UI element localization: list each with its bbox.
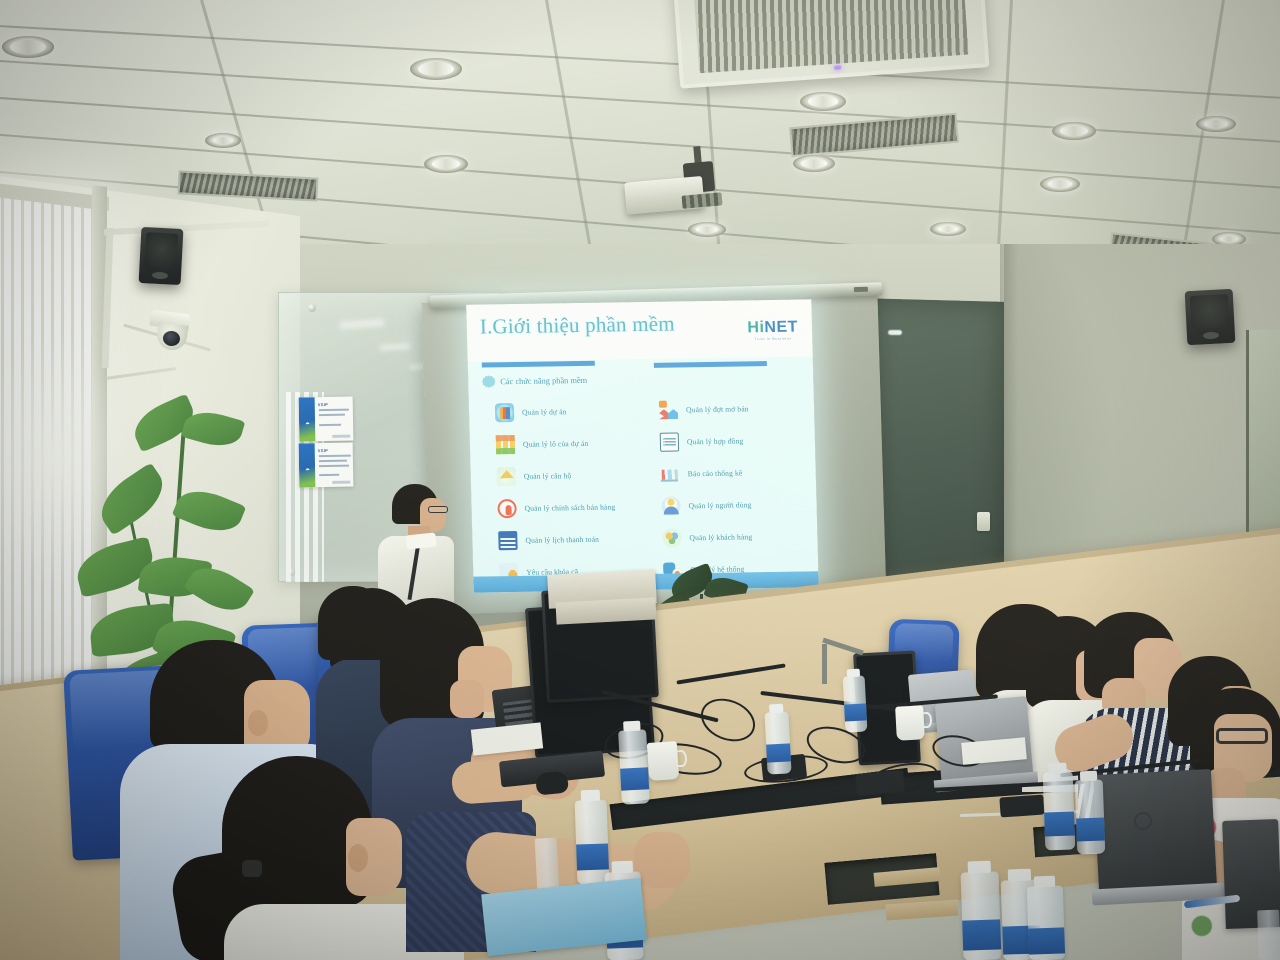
feature-item: Quản lý lô của dự án [495,426,661,461]
feature-item: Báo cáo thống kê [660,455,818,490]
power-adapter [999,794,1044,817]
ceiling-projector [623,165,734,214]
feature-column-right: Quản lý đợt mở bán Quản lý hợp đồng Báo … [659,391,819,585]
glass-door-glint [888,330,902,335]
hinet-logo: HiNET Trust in Business [747,320,798,342]
ceiling-downlight [930,222,966,236]
drinking-glass[interactable] [1257,910,1280,960]
roller-end-cap [854,287,868,292]
ceiling-downlight [1196,116,1236,132]
grid-blocks-icon [496,435,515,454]
project-icon [495,403,514,422]
attendee-ear [248,710,268,736]
ceiling-ac-unit [672,0,989,89]
logo-text-hi: Hi [747,319,764,336]
feature-label: Quản lý căn hộ [524,471,572,481]
feature-column-left: Quản lý dự án Quản lý lô của dự án Quản … [495,394,665,589]
attendee-hair [318,586,388,660]
feature-item: Quản lý hợp đồng [659,423,818,458]
slide-title: I.Giới thiệu phần mềm [480,311,676,339]
wifi-info-poster: ◓ VSIP [299,443,354,488]
poster-title: VSIP [318,448,328,453]
whiteboard-stud [308,304,316,312]
slide-accent-bar-left [482,361,595,368]
attendee-hand [450,680,484,718]
presentation-slide: I.Giới thiệu phần mềm HiNET Trust in Bus… [466,299,819,592]
water-bottle[interactable] [618,729,650,804]
ceiling-downlight [205,133,241,148]
computer-mouse[interactable] [535,770,569,795]
feature-label: Quản lý chính sách bán hàng [524,502,615,512]
feature-label: Quản lý dự án [522,407,567,417]
sales-policy-icon [497,498,516,517]
feature-label: Quản lý lịch thanh toán [525,534,599,544]
feature-item: Quản lý dự án [495,394,661,429]
payment-calendar-icon [498,530,517,549]
attendee-ear [348,844,368,872]
ceiling-downlight [410,58,462,80]
ceiling-vent-left [177,170,318,201]
contract-icon [660,432,679,451]
water-bottle[interactable] [1027,885,1066,960]
feature-label: Quản lý hợp đồng [687,436,744,446]
statistics-report-icon [660,464,679,483]
poster-title: VSIP [318,402,328,407]
feature-label: Báo cáo thống kê [688,468,743,478]
section-heading-label: Các chức năng phần mềm [500,376,587,386]
wall-speaker-right [1185,289,1236,345]
water-bottle[interactable] [575,799,610,884]
ceiling-downlight [424,155,468,173]
ac-led-indicator [834,65,841,69]
ceiling-downlight [800,92,846,111]
glasses-icon [1216,728,1268,744]
wifi-info-poster: ◓ VSIP [299,397,354,442]
water-bottle[interactable] [843,675,868,732]
attendee-dark-blouse-glasses [318,582,448,702]
slide-accent-bar-right [654,361,767,368]
water-bottle[interactable] [764,711,791,774]
ceiling-downlight [2,36,54,58]
feature-item: Quản lý người dùng [661,487,819,522]
feature-item: Quản lý đợt mở bán [659,391,819,426]
feature-label: Quản lý lô của dự án [523,438,589,448]
customer-icon [662,528,681,547]
open-sale-icon [659,400,678,419]
coffee-mug[interactable] [647,741,680,781]
apartment-icon [496,466,515,485]
feature-item: Quản lý chính sách bán hàng [497,490,663,525]
hair-tie [242,860,262,877]
ceiling-downlight [793,155,835,172]
wifi-icon: ◓ [303,419,312,428]
slide-feature-columns: Quản lý dự án Quản lý lô của dự án Quản … [469,391,814,396]
slide-section-heading: Các chức năng phần mềm [482,374,587,389]
feature-item: Quản lý khách hàng [662,519,819,554]
monitor-arm [822,644,827,684]
feature-item: Quản lý căn hộ [496,458,662,493]
ceiling-vent-center [789,113,959,158]
user-manage-icon [661,496,680,515]
feature-item: Quản lý lịch thanh toán [498,522,664,557]
wall-speaker-left [139,227,184,285]
gear-badge-icon [482,375,495,388]
coffee-mug[interactable] [895,705,925,740]
ceiling-downlight [1040,176,1080,192]
power-adapter [855,770,905,796]
glasses-icon [428,506,448,513]
ceiling-downlight [688,222,726,237]
wall-switch[interactable] [977,512,990,531]
laptop-dark-large[interactable] [1093,769,1217,893]
feature-label: Quản lý người dùng [688,500,751,510]
water-bottle[interactable] [1075,780,1106,855]
meeting-room-photo: ◓ VSIP ◓ VSIP I.Giới thiệu phần mềm HiNE… [0,0,1280,960]
water-bottle[interactable] [1043,772,1076,851]
wifi-icon: ◓ [303,465,312,474]
water-bottle[interactable] [960,871,1001,960]
feature-label: Quản lý khách hàng [689,532,752,542]
ceiling-downlight [1052,122,1096,140]
drinking-glass[interactable] [535,837,560,892]
logo-text-net: NET [764,319,798,337]
attendee-hand [634,832,690,888]
feature-label: Quản lý đợt mở bán [686,404,749,414]
